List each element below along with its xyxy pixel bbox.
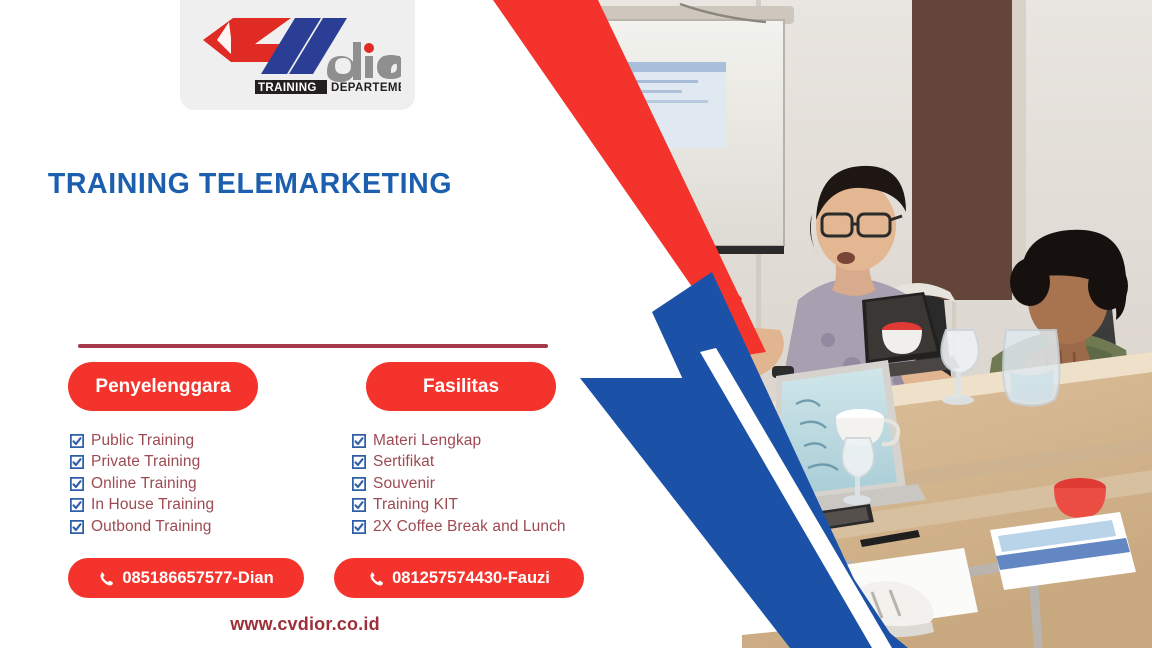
- list-item: Online Training: [70, 473, 214, 495]
- pill-penyelenggara: Penyelenggara: [68, 362, 258, 411]
- list-item-label: In House Training: [91, 496, 214, 514]
- list-fasilitas: Materi Lengkap Sertifikat Souvenir: [352, 430, 566, 538]
- checkbox-checked-icon: [70, 498, 84, 512]
- contact-button-fauzi[interactable]: 081257574430-Fauzi: [334, 558, 584, 598]
- checkbox-checked-icon: [352, 455, 366, 469]
- list-item-label: Online Training: [91, 475, 197, 493]
- svg-text:TRAINING: TRAINING: [258, 82, 317, 94]
- list-item-label: Public Training: [91, 432, 194, 450]
- contact-label: 085186657577-Dian: [122, 569, 273, 588]
- promo-poster: TRAINING DEPARTEMENT TRAINING TELEMARKET…: [0, 0, 1152, 648]
- contact-buttons: 085186657577-Dian 081257574430-Fauzi: [0, 558, 620, 600]
- list-item: 2X Coffee Break and Lunch: [352, 516, 566, 538]
- checkbox-checked-icon: [70, 520, 84, 534]
- checkbox-checked-icon: [70, 434, 84, 448]
- list-item-label: Private Training: [91, 453, 200, 471]
- section-divider: [78, 344, 548, 348]
- list-item: In House Training: [70, 495, 214, 517]
- checkbox-checked-icon: [70, 455, 84, 469]
- list-item: Public Training: [70, 430, 214, 452]
- list-item: Training KIT: [352, 495, 566, 517]
- list-item-label: 2X Coffee Break and Lunch: [373, 518, 566, 536]
- checkbox-checked-icon: [352, 434, 366, 448]
- checkbox-checked-icon: [352, 498, 366, 512]
- contact-button-dian[interactable]: 085186657577-Dian: [68, 558, 304, 598]
- content-panel: TRAINING DEPARTEMENT TRAINING TELEMARKET…: [0, 0, 500, 648]
- list-item-label: Outbond Training: [91, 518, 212, 536]
- website-url[interactable]: www.cvdior.co.id: [0, 614, 610, 635]
- company-logo: TRAINING DEPARTEMENT: [180, 0, 415, 110]
- list-item: Private Training: [70, 452, 214, 474]
- list-item: Materi Lengkap: [352, 430, 566, 452]
- svg-text:DEPARTEMENT: DEPARTEMENT: [331, 82, 401, 94]
- list-item-label: Souvenir: [373, 475, 435, 493]
- checkbox-checked-icon: [352, 477, 366, 491]
- list-penyelenggara: Public Training Private Training Online …: [70, 430, 214, 538]
- phone-icon: [98, 571, 113, 586]
- checkbox-checked-icon: [352, 520, 366, 534]
- phone-icon: [368, 571, 383, 586]
- list-item: Sertifikat: [352, 452, 566, 474]
- list-item-label: Sertifikat: [373, 453, 434, 471]
- list-item: Outbond Training: [70, 516, 214, 538]
- checkbox-checked-icon: [70, 477, 84, 491]
- logo-tagline: TRAINING DEPARTEMENT: [255, 80, 401, 94]
- page-title: TRAINING TELEMARKETING: [0, 168, 500, 201]
- list-item-label: Materi Lengkap: [373, 432, 481, 450]
- logo-wordmark: [327, 42, 401, 82]
- list-item-label: Training KIT: [373, 496, 458, 514]
- pill-fasilitas: Fasilitas: [366, 362, 556, 411]
- list-item: Souvenir: [352, 473, 566, 495]
- contact-label: 081257574430-Fauzi: [392, 569, 550, 588]
- section-headers: Penyelenggara Fasilitas: [0, 362, 600, 412]
